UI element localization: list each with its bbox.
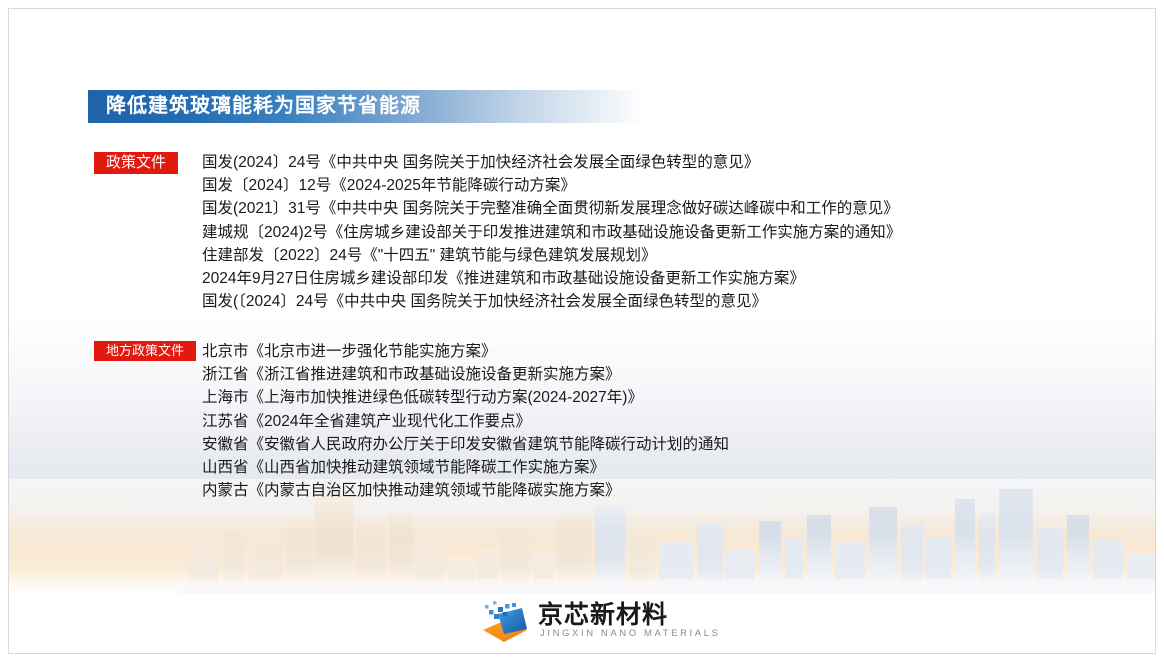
- policy-document-line: 国发(2021〕31号《中共中央 国务院关于完整准确全面贯彻新发展理念做好碳达峰…: [202, 197, 901, 220]
- section-badge-policy: 政策文件: [94, 152, 178, 174]
- logo-name-cn: 京芯新材料: [538, 601, 668, 629]
- policy-document-line: 2024年9月27日住房城乡建设部印发《推进建筑和市政基础设施设备更新工作实施方…: [202, 267, 901, 290]
- pixel-mosaic-logo-icon: [478, 600, 532, 644]
- local-policy-document-line: 浙江省《浙江省推进建筑和市政基础设施设备更新实施方案》: [202, 363, 729, 386]
- policy-document-line: 国发(〔2024〕24号《中共中央 国务院关于加快经济社会发展全面绿色转型的意见…: [202, 290, 901, 313]
- policy-document-line: 国发(2024〕24号《中共中央 国务院关于加快经济社会发展全面绿色转型的意见》: [202, 151, 901, 174]
- local-policy-document-line: 安徽省《安徽省人民政府办公厅关于印发安徽省建筑节能降碳行动计划的通知: [202, 433, 729, 456]
- local-policy-document-line: 山西省《山西省加快推动建筑领域节能降碳工作实施方案》: [202, 456, 729, 479]
- local-policy-document-list: 北京市《北京市进一步强化节能实施方案》浙江省《浙江省推进建筑和市政基础设施设备更…: [202, 340, 729, 502]
- policy-document-line: 住建部发〔2022〕24号《"十四五" 建筑节能与绿色建筑发展规划》: [202, 244, 901, 267]
- presentation-slide: 降低建筑玻璃能耗为国家节省能源 政策文件 国发(2024〕24号《中共中央 国务…: [0, 0, 1164, 662]
- company-logo: 京芯新材料 JINGXIN NANO MATERIALS: [478, 600, 688, 646]
- local-policy-document-line: 江苏省《2024年全省建筑产业现代化工作要点》: [202, 410, 729, 433]
- local-policy-document-line: 内蒙古《内蒙古自治区加快推动建筑领域节能降碳实施方案》: [202, 479, 729, 502]
- local-policy-document-line: 上海市《上海市加快推进绿色低碳转型行动方案(2024-2027年)》: [202, 386, 729, 409]
- local-policy-document-line: 北京市《北京市进一步强化节能实施方案》: [202, 340, 729, 363]
- logo-name-en: JINGXIN NANO MATERIALS: [540, 628, 721, 640]
- policy-document-list: 国发(2024〕24号《中共中央 国务院关于加快经济社会发展全面绿色转型的意见》…: [202, 151, 901, 313]
- policy-document-line: 建城规〔2024)2号《住房城乡建设部关于印发推进建筑和市政基础设施设备更新工作…: [202, 221, 901, 244]
- page-title: 降低建筑玻璃能耗为国家节省能源: [106, 92, 421, 121]
- section-badge-local-policy: 地方政策文件: [94, 341, 196, 361]
- policy-document-line: 国发〔2024〕12号《2024-2025年节能降碳行动方案》: [202, 174, 901, 197]
